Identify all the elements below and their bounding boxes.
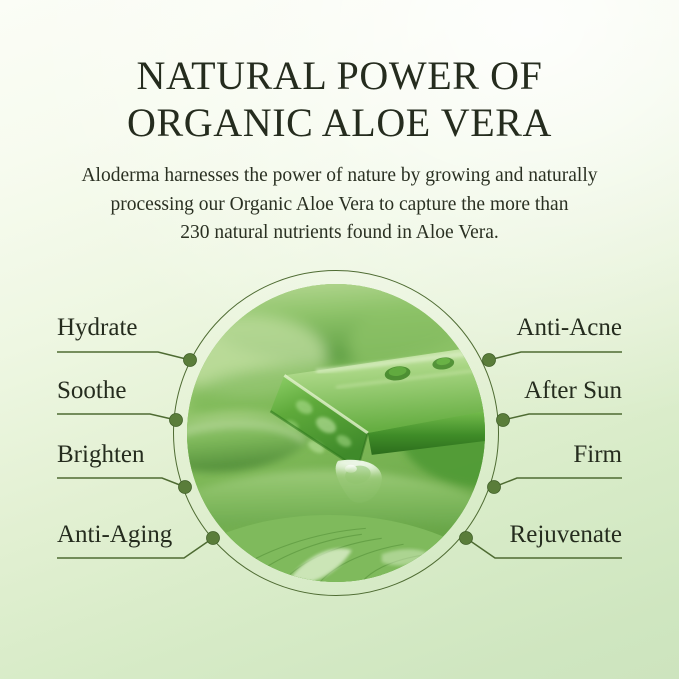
benefit-label-after-sun[interactable]: After Sun [524,376,622,406]
benefit-label-brighten[interactable]: Brighten [57,440,145,470]
benefit-label-firm[interactable]: Firm [573,440,622,470]
page-subtitle: Aloderma harnesses the power of nature b… [40,162,640,248]
benefit-label-soothe[interactable]: Soothe [57,376,126,406]
subtitle-line-1: Aloderma harnesses the power of nature b… [40,162,640,191]
center-circle [173,270,499,596]
benefit-label-anti-acne[interactable]: Anti-Acne [516,313,622,343]
benefit-label-hydrate[interactable]: Hydrate [57,313,138,343]
subtitle-line-2: processing our Organic Aloe Vera to capt… [40,191,640,220]
title-line-1: NATURAL POWER OF [0,52,679,99]
page-title: NATURAL POWER OF ORGANIC ALOE VERA [0,52,679,146]
aloe-vera-infographic: NATURAL POWER OF ORGANIC ALOE VERA Alode… [0,0,679,679]
header: NATURAL POWER OF ORGANIC ALOE VERA Alode… [0,52,679,248]
title-line-2: ORGANIC ALOE VERA [0,99,679,146]
circle-ring [173,270,499,596]
benefit-label-rejuvenate[interactable]: Rejuvenate [510,520,622,550]
subtitle-line-3: 230 natural nutrients found in Aloe Vera… [40,219,640,248]
benefit-label-anti-aging[interactable]: Anti-Aging [57,520,172,550]
